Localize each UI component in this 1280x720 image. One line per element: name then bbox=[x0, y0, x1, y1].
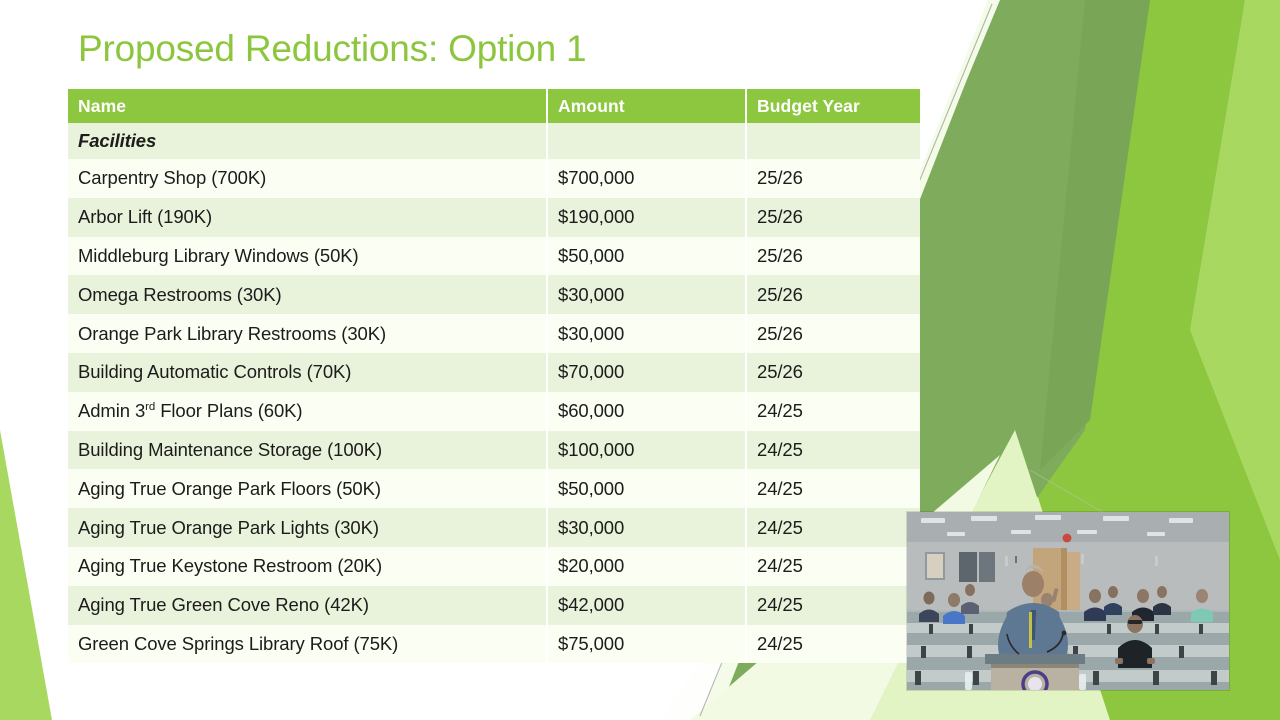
cell-name: Aging True Green Cove Reno (42K) bbox=[68, 586, 548, 625]
cell-amount: $700,000 bbox=[548, 159, 747, 198]
cell-name: Admin 3rd Floor Plans (60K) bbox=[68, 392, 548, 431]
cell-name: Building Automatic Controls (70K) bbox=[68, 353, 548, 392]
cell-budget-year: 25/26 bbox=[747, 237, 920, 276]
cell-budget-year: 25/26 bbox=[747, 353, 920, 392]
cell-amount: $50,000 bbox=[548, 469, 747, 508]
table-body: FacilitiesCarpentry Shop (700K)$700,0002… bbox=[68, 123, 920, 663]
cell-name: Middleburg Library Windows (50K) bbox=[68, 237, 548, 276]
cell-amount: $30,000 bbox=[548, 275, 747, 314]
cell-amount: $75,000 bbox=[548, 625, 747, 664]
meeting-video-inset[interactable] bbox=[907, 512, 1229, 690]
cell-amount: $60,000 bbox=[548, 392, 747, 431]
cell-name: Aging True Orange Park Floors (50K) bbox=[68, 469, 548, 508]
cell-amount: $42,000 bbox=[548, 586, 747, 625]
cell-budget-year: 25/26 bbox=[747, 275, 920, 314]
cell-name: Arbor Lift (190K) bbox=[68, 198, 548, 237]
table-row: Green Cove Springs Library Roof (75K)$75… bbox=[68, 625, 920, 664]
cell-name: Aging True Keystone Restroom (20K) bbox=[68, 547, 548, 586]
table-row: Building Maintenance Storage (100K)$100,… bbox=[68, 431, 920, 470]
cell-name: Aging True Orange Park Lights (30K) bbox=[68, 508, 548, 547]
cell-budget-year: 24/25 bbox=[747, 469, 920, 508]
table-row: Arbor Lift (190K)$190,00025/26 bbox=[68, 198, 920, 237]
cell-name: Orange Park Library Restrooms (30K) bbox=[68, 314, 548, 353]
cell-budget-year: 25/26 bbox=[747, 198, 920, 237]
table-row: Aging True Orange Park Lights (30K)$30,0… bbox=[68, 508, 920, 547]
cell-budget-year: 25/26 bbox=[747, 159, 920, 198]
cell-amount: $30,000 bbox=[548, 508, 747, 547]
cell-name: Omega Restrooms (30K) bbox=[68, 275, 548, 314]
cell-amount: $70,000 bbox=[548, 353, 747, 392]
table-header-row: Name Amount Budget Year bbox=[68, 89, 920, 123]
cell-name: Building Maintenance Storage (100K) bbox=[68, 431, 548, 470]
cell-budget-year: 24/25 bbox=[747, 586, 920, 625]
table-row: Admin 3rd Floor Plans (60K)$60,00024/25 bbox=[68, 392, 920, 431]
table-row: Omega Restrooms (30K)$30,00025/26 bbox=[68, 275, 920, 314]
cell-budget-year: 24/25 bbox=[747, 508, 920, 547]
cell-budget-year: 25/26 bbox=[747, 314, 920, 353]
table-row: Orange Park Library Restrooms (30K)$30,0… bbox=[68, 314, 920, 353]
cell-amount: $20,000 bbox=[548, 547, 747, 586]
cell-amount: $190,000 bbox=[548, 198, 747, 237]
table-row: Aging True Keystone Restroom (20K)$20,00… bbox=[68, 547, 920, 586]
proposed-reductions-table: Name Amount Budget Year FacilitiesCarpen… bbox=[68, 89, 920, 663]
cell-amount bbox=[548, 123, 747, 159]
cell-budget-year: 24/25 bbox=[747, 547, 920, 586]
cell-name: Facilities bbox=[68, 123, 548, 159]
video-frame bbox=[907, 512, 1229, 690]
table-row: Building Automatic Controls (70K)$70,000… bbox=[68, 353, 920, 392]
cell-budget-year: 24/25 bbox=[747, 625, 920, 664]
column-header-amount[interactable]: Amount bbox=[548, 89, 747, 123]
column-header-budget-year[interactable]: Budget Year bbox=[747, 89, 920, 123]
table-row: Aging True Green Cove Reno (42K)$42,0002… bbox=[68, 586, 920, 625]
page-title: Proposed Reductions: Option 1 bbox=[78, 28, 586, 70]
table-row: Carpentry Shop (700K)$700,00025/26 bbox=[68, 159, 920, 198]
cell-budget-year: 24/25 bbox=[747, 431, 920, 470]
cell-name: Carpentry Shop (700K) bbox=[68, 159, 548, 198]
column-header-name[interactable]: Name bbox=[68, 89, 548, 123]
table-row: Middleburg Library Windows (50K)$50,0002… bbox=[68, 237, 920, 276]
cell-budget-year: 24/25 bbox=[747, 392, 920, 431]
cell-amount: $50,000 bbox=[548, 237, 747, 276]
ordinal-suffix: rd bbox=[145, 401, 155, 413]
cell-budget-year bbox=[747, 123, 920, 159]
cell-name: Green Cove Springs Library Roof (75K) bbox=[68, 625, 548, 664]
cell-amount: $30,000 bbox=[548, 314, 747, 353]
table-header: Name Amount Budget Year bbox=[68, 89, 920, 123]
cell-amount: $100,000 bbox=[548, 431, 747, 470]
table-row: Aging True Orange Park Floors (50K)$50,0… bbox=[68, 469, 920, 508]
table-section-row: Facilities bbox=[68, 123, 920, 159]
